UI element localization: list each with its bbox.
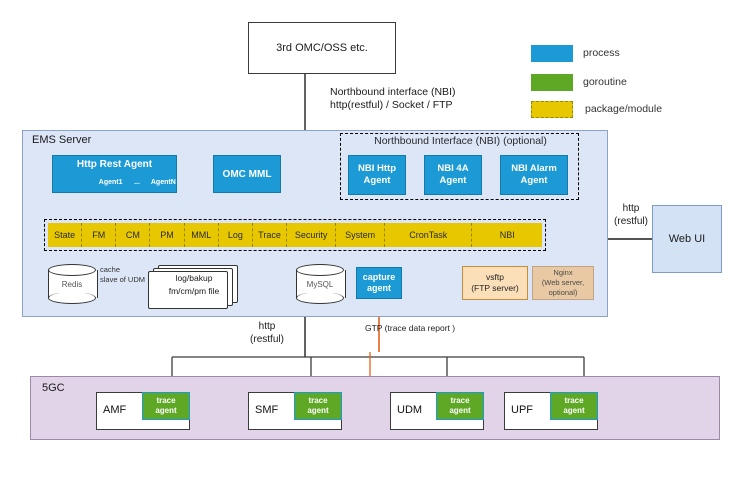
legend-swatch-package-module xyxy=(531,101,573,118)
nbi-http-agent-line1: NBI Http xyxy=(358,163,396,175)
trace-agent-udm[interactable]: trace agent xyxy=(436,392,484,420)
network-function-upf[interactable]: UPF trace agent xyxy=(504,392,598,430)
omc-oss-box[interactable]: 3rd OMC/OSS etc. xyxy=(248,22,396,74)
nbi-alarm-agent-line2: Agent xyxy=(511,175,557,187)
nbi-4a-agent-line1: NBI 4A xyxy=(437,163,468,175)
module-cell-system[interactable]: System xyxy=(336,223,385,247)
capture-agent-line1: capture xyxy=(363,272,396,283)
module-cell-security[interactable]: Security xyxy=(287,223,336,247)
web-ui-box[interactable]: Web UI xyxy=(652,205,722,273)
docs-line1: log/bakup xyxy=(155,272,233,285)
module-cell-fm[interactable]: FM xyxy=(82,223,116,247)
legend-swatch-process xyxy=(531,45,573,62)
redis-datastore[interactable]: Redis xyxy=(48,264,96,304)
capture-agent-line2: agent xyxy=(363,283,396,294)
nbi-alarm-agent-box[interactable]: NBI Alarm Agent xyxy=(500,155,568,195)
log-file-stack-label: log/bakup fm/cm/pm file xyxy=(155,272,233,298)
module-cell-mml[interactable]: MML xyxy=(185,223,219,247)
trace-agent-amf-line1: trace xyxy=(155,396,176,406)
vsftp-box[interactable]: vsftp (FTP server) xyxy=(462,266,528,300)
legend-label-process: process xyxy=(583,47,620,59)
module-cell-state[interactable]: State xyxy=(48,223,82,247)
nbi-4a-agent-line2: Agent xyxy=(437,175,468,187)
trace-agent-smf[interactable]: trace agent xyxy=(294,392,342,420)
http-rest-sub-agents: Agent1 ... AgentN xyxy=(98,175,176,190)
nginx-line3: optional) xyxy=(542,288,584,298)
nf-label-udm: UDM xyxy=(397,404,422,416)
legend-swatch-goroutine xyxy=(531,74,573,91)
module-cell-crontask[interactable]: CronTask xyxy=(385,223,472,247)
network-function-amf[interactable]: AMF trace agent xyxy=(96,392,190,430)
trace-agent-amf-line2: agent xyxy=(155,406,176,416)
http-rest-agent-label: Http Rest Agent xyxy=(53,159,176,170)
fivegc-title: 5GC xyxy=(42,382,65,394)
docs-line2: fm/cm/pm file xyxy=(155,285,233,298)
module-cell-pm[interactable]: PM xyxy=(150,223,184,247)
package-module-bar: StateFMCMPMMMLLogTraceSecuritySystemCron… xyxy=(48,223,542,247)
sub-agent-n: AgentN xyxy=(151,175,176,190)
http-restful-link-label: http (restful) xyxy=(240,320,294,346)
nbi-group-title: Northbound Interface (NBI) (optional) xyxy=(348,135,573,147)
trace-agent-upf[interactable]: trace agent xyxy=(550,392,598,420)
nbi-alarm-agent-line1: NBI Alarm xyxy=(511,163,557,175)
trace-agent-upf-line2: agent xyxy=(563,406,584,416)
http-restful-line1: http xyxy=(240,320,294,333)
nbi-4a-agent-box[interactable]: NBI 4A Agent xyxy=(424,155,482,195)
nbi-http-agent-line2: Agent xyxy=(358,175,396,187)
nbi-link-line2: http(restful) / Socket / FTP xyxy=(330,99,540,112)
vsftp-line2: (FTP server) xyxy=(471,283,519,294)
redis-label: Redis xyxy=(48,264,96,304)
trace-agent-smf-line2: agent xyxy=(307,406,328,416)
module-cell-log[interactable]: Log xyxy=(219,223,253,247)
module-cell-trace[interactable]: Trace xyxy=(253,223,287,247)
module-cell-nbi[interactable]: NBI xyxy=(472,223,542,247)
nginx-box[interactable]: Nginx (Web server, optional) xyxy=(532,266,594,300)
mysql-label: MySQL xyxy=(296,264,344,304)
http-restful-line2: (restful) xyxy=(240,333,294,346)
trace-agent-upf-line1: trace xyxy=(563,396,584,406)
trace-agent-smf-line1: trace xyxy=(307,396,328,406)
module-cell-cm[interactable]: CM xyxy=(116,223,150,247)
mysql-datastore[interactable]: MySQL xyxy=(296,264,344,304)
trace-agent-amf[interactable]: trace agent xyxy=(142,392,190,420)
capture-agent-box[interactable]: capture agent xyxy=(356,267,402,299)
nf-label-amf: AMF xyxy=(103,404,126,416)
nginx-line2: (Web server, xyxy=(542,278,584,288)
network-function-smf[interactable]: SMF trace agent xyxy=(248,392,342,430)
ems-server-title: EMS Server xyxy=(32,134,91,146)
web-ui-link-line2: (restful) xyxy=(608,215,654,228)
nginx-line1: Nginx xyxy=(542,268,584,278)
nbi-http-agent-box[interactable]: NBI Http Agent xyxy=(348,155,406,195)
legend-label-package-module: package/module xyxy=(585,103,662,115)
nbi-link-line1: Northbound interface (NBI) xyxy=(330,86,540,99)
nf-label-upf: UPF xyxy=(511,404,533,416)
gtp-link-label: GTP (trace data report ) xyxy=(365,323,455,333)
sub-agent-1: Agent1 xyxy=(98,175,124,190)
sub-agent-ellipsis: ... xyxy=(124,175,150,190)
nf-label-smf: SMF xyxy=(255,404,278,416)
web-ui-link-label: http (restful) xyxy=(608,202,654,228)
network-function-udm[interactable]: UDM trace agent xyxy=(390,392,484,430)
http-rest-agent-box[interactable]: Http Rest Agent Agent1 ... AgentN xyxy=(52,155,177,193)
trace-agent-udm-line2: agent xyxy=(449,406,470,416)
vsftp-line1: vsftp xyxy=(471,272,519,283)
northbound-interface-link-label: Northbound interface (NBI) http(restful)… xyxy=(330,86,540,112)
legend-label-goroutine: goroutine xyxy=(583,76,627,88)
web-ui-link-line1: http xyxy=(608,202,654,215)
omc-mml-box[interactable]: OMC MML xyxy=(213,155,281,193)
trace-agent-udm-line1: trace xyxy=(449,396,470,406)
